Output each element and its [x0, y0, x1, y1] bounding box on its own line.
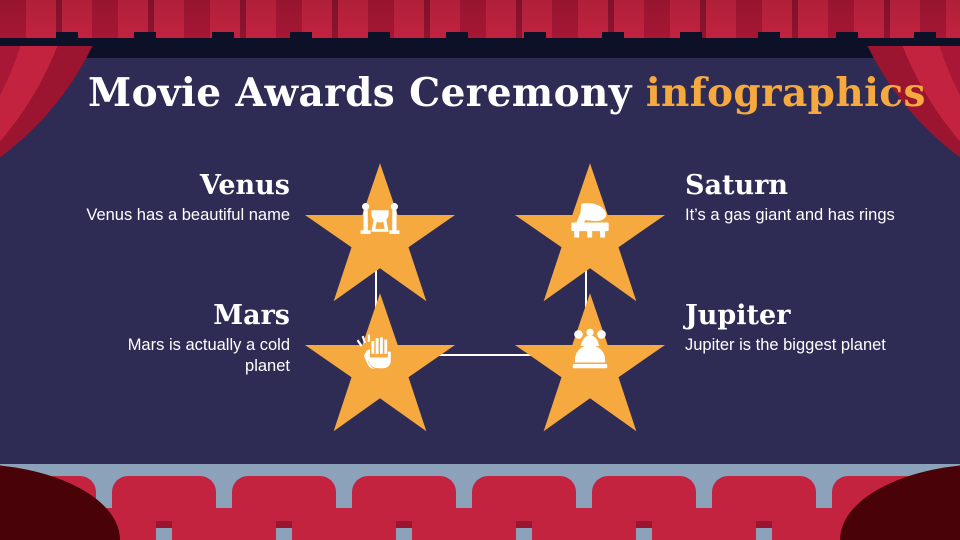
star-jupiter[interactable]	[515, 293, 665, 436]
item-title-venus: Venus	[80, 172, 290, 199]
item-block-mars: Mars Mars is actually a cold planet	[80, 302, 290, 376]
item-description-jupiter: Jupiter is the biggest planet	[685, 335, 895, 356]
grand-piano-icon	[515, 193, 665, 249]
item-block-saturn: Saturn It’s a gas giant and has rings	[685, 172, 895, 226]
page-title: Movie Awards Ceremony infographics	[88, 70, 888, 116]
valance-notches	[0, 32, 960, 44]
star-mars[interactable]	[305, 293, 455, 436]
title-accent-text: infographics	[646, 70, 926, 116]
item-title-saturn: Saturn	[685, 172, 895, 199]
item-title-mars: Mars	[80, 302, 290, 329]
theater-stage-icon	[305, 193, 455, 249]
item-block-jupiter: Jupiter Jupiter is the biggest planet	[685, 302, 895, 356]
star-venus[interactable]	[305, 163, 455, 306]
clapping-hands-icon	[305, 323, 455, 379]
jester-hat-icon	[515, 323, 665, 379]
item-title-jupiter: Jupiter	[685, 302, 895, 329]
audience-seating	[0, 464, 960, 540]
item-description-venus: Venus has a beautiful name	[80, 205, 290, 226]
item-description-saturn: It’s a gas giant and has rings	[685, 205, 895, 226]
item-description-mars: Mars is actually a cold planet	[80, 335, 290, 376]
slide-canvas: Movie Awards Ceremony infographics	[0, 0, 960, 540]
title-main-text: Movie Awards Ceremony	[88, 70, 646, 116]
item-block-venus: Venus Venus has a beautiful name	[80, 172, 290, 226]
star-saturn[interactable]	[515, 163, 665, 306]
